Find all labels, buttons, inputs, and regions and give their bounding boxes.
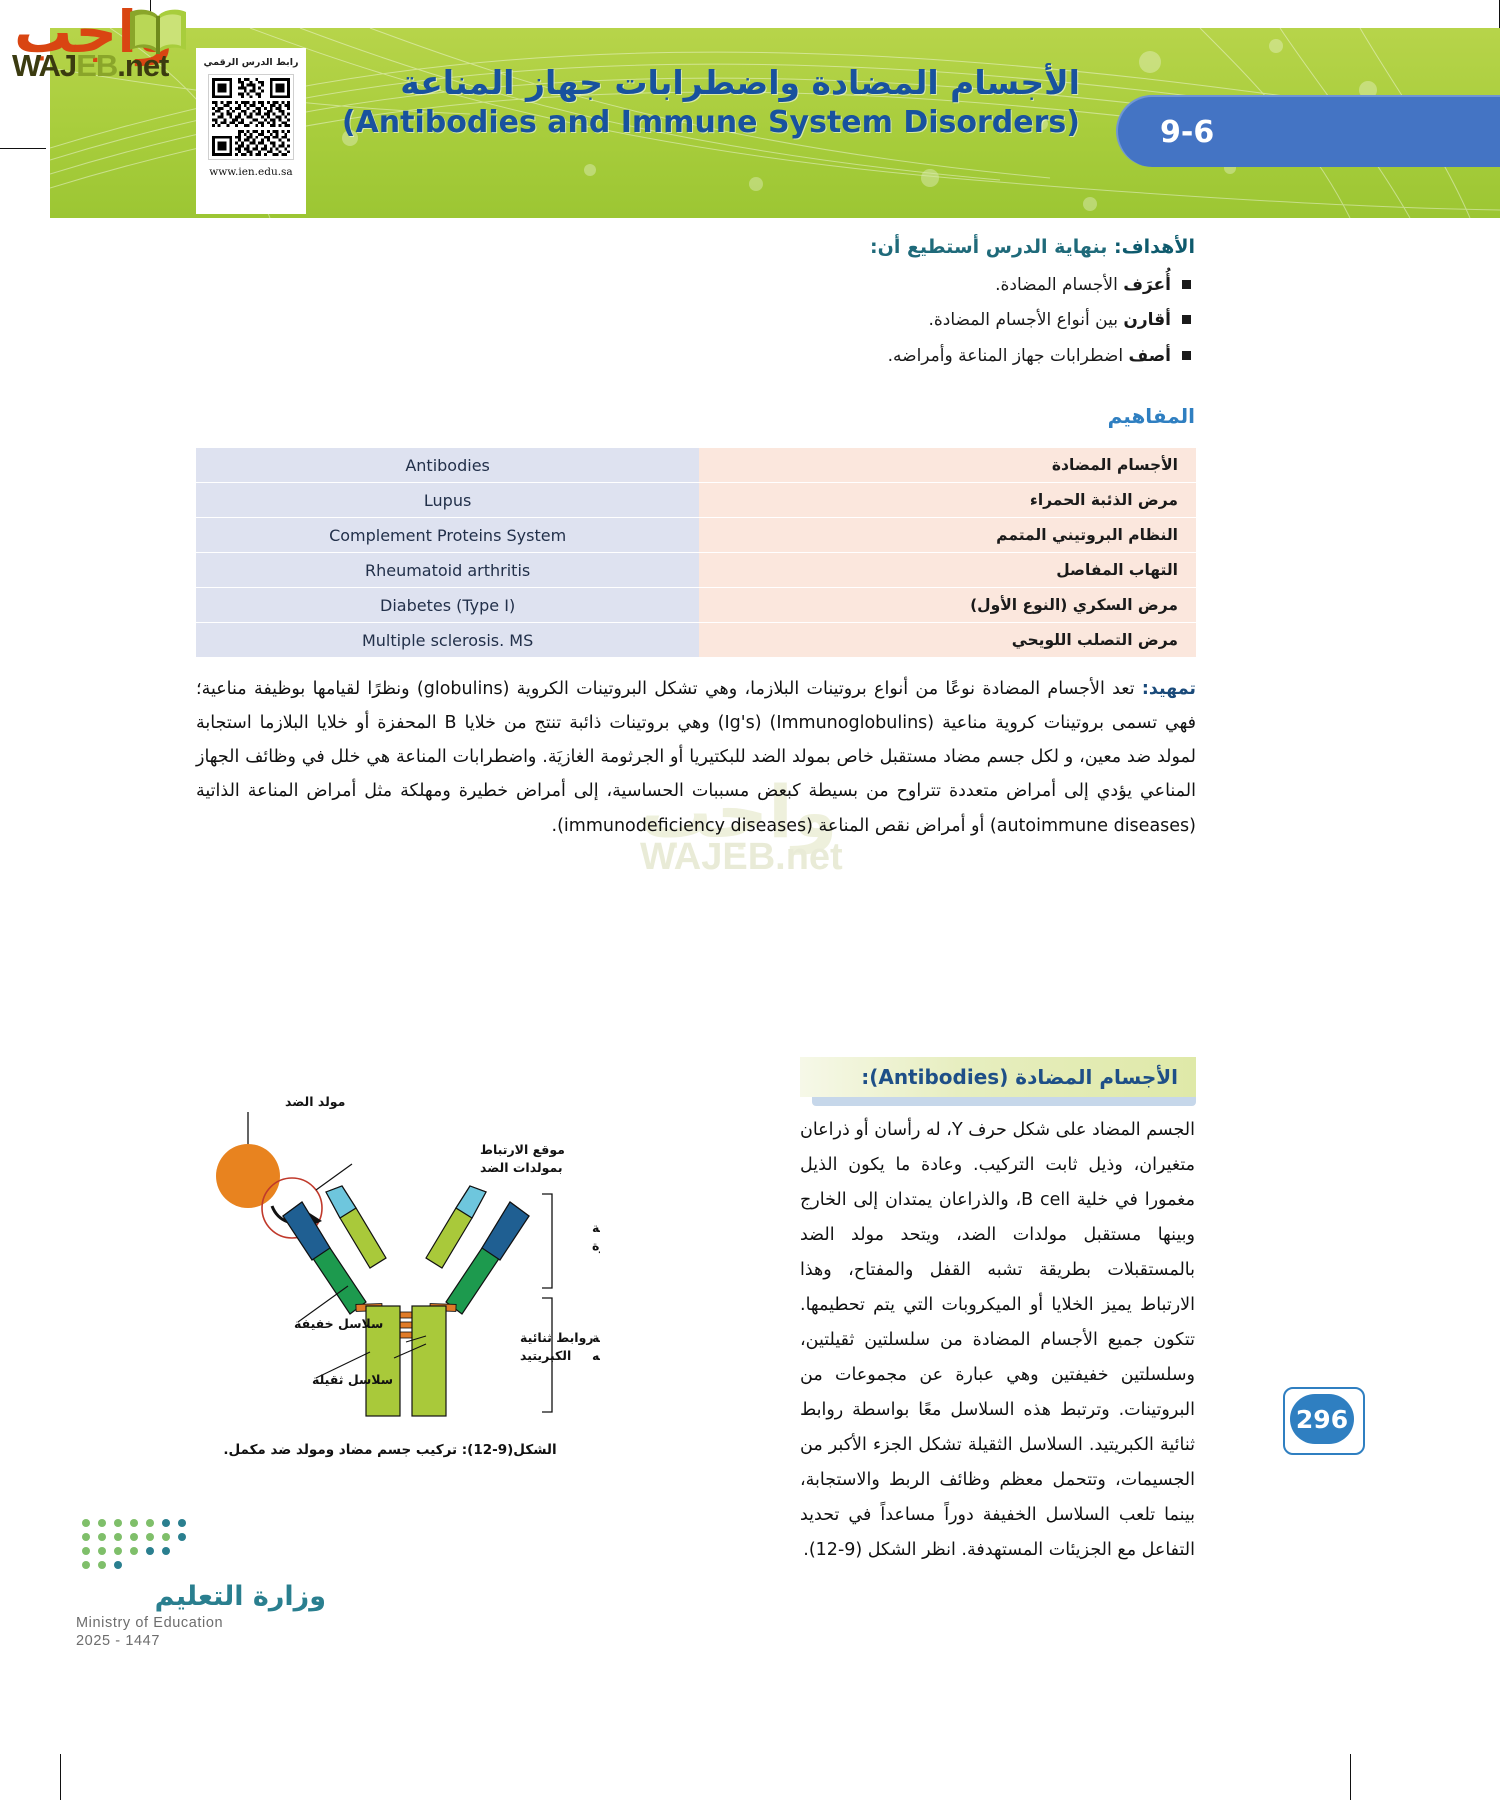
objectives-list: أُعرَف الأجسام المضادة. أقارن بين أنواع … bbox=[805, 272, 1195, 369]
concept-english: Complement Proteins System bbox=[196, 518, 699, 553]
ministry-name-arabic: وزارة التعليم bbox=[76, 1581, 326, 1612]
objectives-block: الأهداف: بنهاية الدرس أستطيع أن: أُعرَف … bbox=[805, 236, 1195, 378]
page-number-badge: 296 bbox=[1290, 1394, 1354, 1444]
concept-arabic: مرض التصلب اللويحي bbox=[699, 623, 1196, 658]
ministry-of-education-logo: وزارة التعليم Ministry of Education 2025… bbox=[76, 1515, 326, 1649]
antibody-diagram-svg: مولد الضد موقع الارتباط بمولدات الضد bbox=[180, 1090, 600, 1430]
crop-mark bbox=[0, 148, 46, 149]
table-row: مرض التصلب اللويحي Multiple sclerosis. M… bbox=[196, 623, 1196, 658]
variable-region-label-line2: متغيرة bbox=[592, 1238, 600, 1253]
table-row: النظام البروتيني المتمم Complement Prote… bbox=[196, 518, 1196, 553]
crop-mark bbox=[1350, 1754, 1351, 1800]
objectives-heading-rest: بنهاية الدرس أستطيع أن: bbox=[870, 236, 1114, 258]
concept-english: Lupus bbox=[196, 483, 699, 518]
ministry-years: 2025 - 1447 bbox=[76, 1633, 326, 1649]
qr-code-icon[interactable] bbox=[208, 74, 294, 160]
intro-label: تمهيد: bbox=[1142, 679, 1196, 699]
intro-text: تعد الأجسام المضادة نوعًا من أنواع بروتي… bbox=[196, 679, 1196, 836]
qr-code-svg bbox=[209, 75, 293, 159]
objectives-heading-bold: الأهداف: bbox=[1114, 236, 1195, 258]
disulfide-label-line1: روابط ثنائية bbox=[520, 1330, 594, 1345]
lesson-number-badge: 9-6 bbox=[1116, 95, 1500, 167]
textbook-page: الأجسام المضادة واضطرابات جهاز المناعة (… bbox=[0, 0, 1500, 1800]
section-heading-shadow bbox=[812, 1097, 1196, 1106]
constant-region-label-line2: ثابته bbox=[592, 1348, 600, 1363]
table-row: مرض الذئبة الحمراء Lupus bbox=[196, 483, 1196, 518]
heavy-chains-label: سلاسل ثقيلة bbox=[312, 1372, 393, 1387]
binding-site-label-line1: موقع الارتباط bbox=[480, 1142, 565, 1157]
concept-english: Multiple sclerosis. MS bbox=[196, 623, 699, 658]
antigen-label: مولد الضد bbox=[285, 1094, 345, 1109]
figure-caption: الشكل(9-12): تركيب جسم مضاد ومولد ضد مكم… bbox=[180, 1442, 600, 1458]
disulfide-label-line2: الكبريتيد bbox=[520, 1348, 571, 1363]
concept-english: Diabetes (Type I) bbox=[196, 588, 699, 623]
concept-arabic: مرض السكري (النوع الأول) bbox=[699, 588, 1196, 623]
antigen-circle bbox=[216, 1144, 280, 1208]
objectives-heading: الأهداف: بنهاية الدرس أستطيع أن: bbox=[805, 236, 1195, 258]
section-heading-antibodies: الأجسام المضادة (Antibodies): bbox=[800, 1057, 1196, 1097]
table-row: مرض السكري (النوع الأول) Diabetes (Type … bbox=[196, 588, 1196, 623]
table-row: التهاب المفاصل Rheumatoid arthritis bbox=[196, 553, 1196, 588]
intro-paragraph: تمهيد: تعد الأجسام المضادة نوعًا من أنوا… bbox=[196, 672, 1196, 843]
objective-item: أصف اضطرابات جهاز المناعة وأمراضه. bbox=[805, 343, 1195, 369]
binding-site-label-line2: بمولدات الضد bbox=[480, 1160, 563, 1175]
concepts-heading: المفاهيم bbox=[1108, 404, 1195, 428]
concept-arabic: النظام البروتيني المتمم bbox=[699, 518, 1196, 553]
antibody-structure-figure: مولد الضد موقع الارتباط بمولدات الضد bbox=[180, 1090, 600, 1430]
concept-english: Rheumatoid arthritis bbox=[196, 553, 699, 588]
table-row: الأجسام المضادة Antibodies bbox=[196, 448, 1196, 483]
concept-arabic: التهاب المفاصل bbox=[699, 553, 1196, 588]
concepts-table: الأجسام المضادة Antibodies مرض الذئبة ال… bbox=[196, 447, 1196, 658]
concept-english: Antibodies bbox=[196, 448, 699, 483]
objective-item: أقارن بين أنواع الأجسام المضادة. bbox=[805, 307, 1195, 333]
variable-region-bracket bbox=[542, 1194, 552, 1288]
section-heading-text: الأجسام المضادة (Antibodies): bbox=[861, 1065, 1178, 1089]
concept-arabic: مرض الذئبة الحمراء bbox=[699, 483, 1196, 518]
qr-url-label: www.ien.edu.sa bbox=[196, 166, 306, 178]
site-watermark-logo: واجب WAJEB.net bbox=[8, 4, 238, 74]
section-body-text: الجسم المضاد على شكل حرف Y، له رأسان أو … bbox=[800, 1113, 1195, 1568]
ministry-dots-icon bbox=[76, 1515, 216, 1573]
lesson-title: الأجسام المضادة واضطرابات جهاز المناعة (… bbox=[340, 62, 1080, 142]
light-chains-label: سلاسل خفيفة bbox=[294, 1316, 383, 1331]
ministry-name-english: Ministry of Education bbox=[76, 1615, 326, 1631]
lesson-title-english: (Antibodies and Immune System Disorders) bbox=[340, 103, 1080, 142]
objective-item: أُعرَف الأجسام المضادة. bbox=[805, 272, 1195, 298]
concept-arabic: الأجسام المضادة bbox=[699, 448, 1196, 483]
crop-mark bbox=[60, 1754, 61, 1800]
variable-region-label-line1: منطقة bbox=[592, 1220, 600, 1235]
lesson-title-arabic: الأجسام المضادة واضطرابات جهاز المناعة bbox=[340, 62, 1080, 103]
open-book-icon bbox=[124, 6, 192, 64]
